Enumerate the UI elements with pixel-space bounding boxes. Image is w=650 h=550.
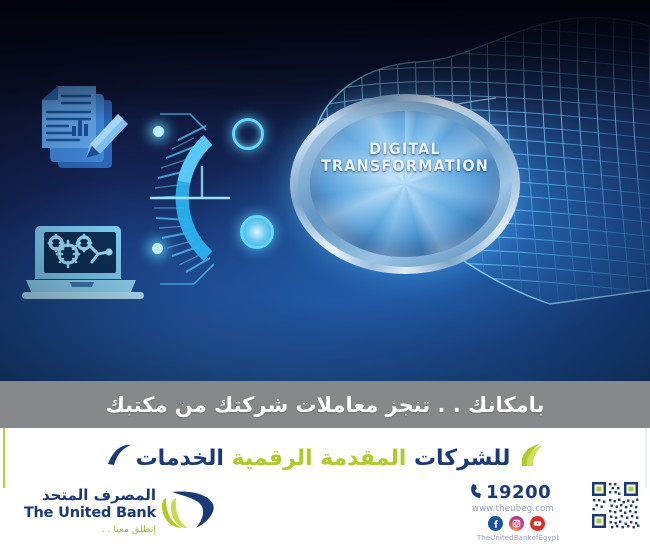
youtube-icon[interactable] [530, 516, 545, 531]
social-handle: TheUnitedBankofEgypt [470, 534, 566, 542]
headline-green: المقدمة الرقمية [224, 446, 414, 471]
qr-code[interactable] [590, 480, 640, 530]
social-links [488, 516, 545, 531]
headline-wave-icon [106, 444, 132, 474]
contact-block: 19200 www.theubeg.com TheUnitedBankofEgy… [470, 480, 640, 546]
headline-blue-1: للشركات [414, 446, 510, 471]
instagram-icon[interactable] [509, 516, 524, 531]
hero-image: DIGITAL TRANSFORMATION [0, 0, 650, 381]
bank-tagline: إنطلق معنا . . [18, 524, 156, 535]
hotline-number: 19200 [486, 482, 551, 503]
hotline[interactable]: 19200 [470, 482, 551, 503]
headline-blue-2: الخدمات [136, 446, 224, 471]
tagline-banner: بامكانك . . تنجز معاملات شركتك من مكتبك [0, 381, 650, 428]
advertisement-banner: DIGITAL TRANSFORMATION [0, 0, 650, 550]
bank-name-english: The United Bank [18, 504, 156, 522]
bank-logo-text: المصرف المتحد The United Bank إنطلق معنا… [18, 488, 156, 535]
hero-vignette [0, 0, 650, 381]
website-url[interactable]: www.theubeg.com [472, 504, 554, 514]
bank-logo[interactable]: المصرف المتحد The United Bank إنطلق معنا… [16, 488, 216, 544]
footer: للشركات المقدمة الرقمية الخدمات المصرف ا… [0, 428, 650, 550]
footer-headline: للشركات المقدمة الرقمية الخدمات [0, 442, 650, 474]
bank-name-arabic: المصرف المتحد [18, 488, 156, 504]
facebook-icon[interactable] [488, 516, 503, 531]
headline-swoosh-icon [518, 442, 548, 474]
phone-handset-icon [470, 483, 484, 503]
united-bank-swoosh-logo [160, 488, 216, 532]
tagline-text: بامكانك . . تنجز معاملات شركتك من مكتبك [106, 393, 545, 417]
